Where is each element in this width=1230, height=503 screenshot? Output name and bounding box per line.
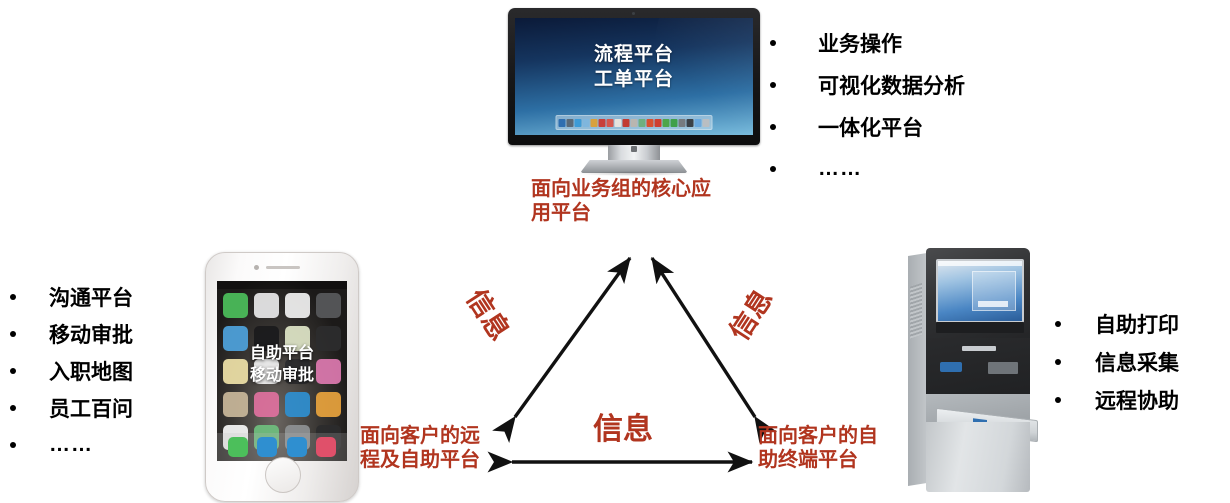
kiosk-keypad[interactable] xyxy=(988,362,1018,374)
dock-icon-pages xyxy=(615,119,622,127)
phone-body: 自助平台 移动审批 xyxy=(205,252,359,502)
flow-label-bottom: 信息 xyxy=(593,404,653,448)
list-item: …… xyxy=(770,148,965,190)
list-item: …… xyxy=(10,426,133,463)
dock-icon-calendar xyxy=(599,119,606,127)
list-item-label: 员工百问 xyxy=(49,393,133,423)
dock-icon-finder xyxy=(559,119,566,127)
list-item: 信息采集 xyxy=(1055,343,1179,381)
bullet-dot-icon xyxy=(770,82,776,88)
list-item-label: 远程协助 xyxy=(1095,385,1179,415)
list-item-label: 入职地图 xyxy=(49,356,133,386)
dock-icon-numbers xyxy=(623,119,630,127)
arrow-phone-to-monitor xyxy=(515,258,630,417)
app-icon-itunes xyxy=(254,392,279,417)
app-icon-newsstand xyxy=(223,392,248,417)
slide-canvas: 流程平台 工单平台 xyxy=(0,0,1230,503)
list-item: 可视化数据分析 xyxy=(770,64,965,106)
bullet-dot-icon xyxy=(1055,397,1061,403)
kiosk-card-slot[interactable] xyxy=(962,346,996,351)
monitor-shadow xyxy=(576,171,692,176)
list-item: 自助打印 xyxy=(1055,305,1179,343)
caption-kiosk: 面向客户的自 助终端平台 xyxy=(758,425,918,472)
caption-monitor: 面向业务组的核心应 用平台 xyxy=(531,178,711,225)
bullet-dot-icon xyxy=(10,442,16,448)
monitor-bezel: 流程平台 工单平台 xyxy=(508,8,760,145)
monitor-screen-label: 流程平台 工单平台 xyxy=(515,42,753,92)
dock-icon-phone xyxy=(228,437,248,457)
list-item-label: 业务操作 xyxy=(818,28,902,58)
dock-icon-music xyxy=(316,437,336,457)
dock-icon-mail xyxy=(257,437,277,457)
list-item-label: 移动审批 xyxy=(49,319,133,349)
dock-icon-settings xyxy=(679,119,686,127)
list-item: 一体化平台 xyxy=(770,106,965,148)
bullet-dot-icon xyxy=(1055,359,1061,365)
list-item-label: 沟通平台 xyxy=(49,282,133,312)
dock-icon-launchpad xyxy=(567,119,574,127)
smartphone: 自助平台 移动审批 xyxy=(205,252,357,500)
app-icon-messages xyxy=(223,293,248,318)
phone-screen-label: 自助平台 移动审批 xyxy=(217,343,347,388)
list-item-label: 可视化数据分析 xyxy=(818,70,965,100)
monitor-feature-list: 业务操作 可视化数据分析 一体化平台 …… xyxy=(770,22,965,190)
bullet-dot-icon xyxy=(10,294,16,300)
bullet-dot-icon xyxy=(1055,321,1061,327)
list-item-label: …… xyxy=(49,433,93,457)
dock-icon-safari xyxy=(287,437,307,457)
monitor-dock xyxy=(556,115,713,130)
bullet-dot-icon xyxy=(10,405,16,411)
kiosk-card-reader[interactable] xyxy=(940,362,962,372)
dock-icon-music xyxy=(647,119,654,127)
bullet-dot-icon xyxy=(10,331,16,337)
phone-feature-list: 沟通平台 移动审批 入职地图 员工百问 …… xyxy=(10,278,133,463)
app-icon-appstore xyxy=(285,392,310,417)
dock-icon-safari xyxy=(575,119,582,127)
dock-icon-trash xyxy=(703,119,710,127)
app-icon-photos xyxy=(285,293,310,318)
list-item: 业务操作 xyxy=(770,22,965,64)
phone-status-bar xyxy=(217,281,347,289)
phone-screen: 自助平台 移动审批 xyxy=(217,281,347,461)
list-item-label: …… xyxy=(818,157,862,181)
bullet-dot-icon xyxy=(10,368,16,374)
list-item: 沟通平台 xyxy=(10,278,133,315)
dock-icon-mail xyxy=(583,119,590,127)
list-item: 入职地图 xyxy=(10,352,133,389)
kiosk-screen-button[interactable] xyxy=(978,301,1008,307)
list-item: 远程协助 xyxy=(1055,381,1179,419)
dock-icon-notes xyxy=(591,119,598,127)
dock-icon-folder xyxy=(695,119,702,127)
monitor-logo-icon xyxy=(631,146,637,152)
monitor-screen: 流程平台 工单平台 xyxy=(515,18,753,135)
desktop-monitor: 流程平台 工单平台 xyxy=(508,8,760,176)
app-icon-camera xyxy=(316,293,341,318)
kiosk-screen-titlebar xyxy=(938,261,1022,266)
dock-icon-messages xyxy=(663,119,670,127)
kiosk-head xyxy=(926,248,1030,340)
list-item-label: 信息采集 xyxy=(1095,347,1179,377)
bullet-dot-icon xyxy=(770,166,776,172)
caption-phone: 面向客户的远 程及自助平台 xyxy=(360,425,520,472)
dock-icon-store xyxy=(655,119,662,127)
bullet-dot-icon xyxy=(770,124,776,130)
dock-icon-photos xyxy=(607,119,614,127)
dock-icon-maps xyxy=(639,119,646,127)
list-item: 移动审批 xyxy=(10,315,133,352)
list-item-label: 自助打印 xyxy=(1095,309,1179,339)
dock-icon-facetime xyxy=(671,119,678,127)
list-item-label: 一体化平台 xyxy=(818,112,923,142)
self-service-kiosk xyxy=(908,248,1048,493)
monitor-camera-icon xyxy=(632,12,635,15)
bullet-dot-icon xyxy=(770,40,776,46)
kiosk-body xyxy=(926,338,1030,398)
dock-icon-terminal xyxy=(687,119,694,127)
kiosk-feature-list: 自助打印 信息采集 远程协助 xyxy=(1055,305,1179,419)
kiosk-screen[interactable] xyxy=(936,259,1024,323)
kiosk-vent xyxy=(910,283,922,339)
phone-home-button[interactable] xyxy=(265,457,301,493)
list-item: 员工百问 xyxy=(10,389,133,426)
app-icon-passbook xyxy=(316,392,341,417)
phone-camera-icon xyxy=(254,265,259,270)
kiosk-base xyxy=(926,422,1030,492)
dock-icon-keynote xyxy=(631,119,638,127)
app-icon-calendar xyxy=(254,293,279,318)
phone-speaker xyxy=(266,266,300,269)
kiosk-control-panel xyxy=(936,322,1024,333)
